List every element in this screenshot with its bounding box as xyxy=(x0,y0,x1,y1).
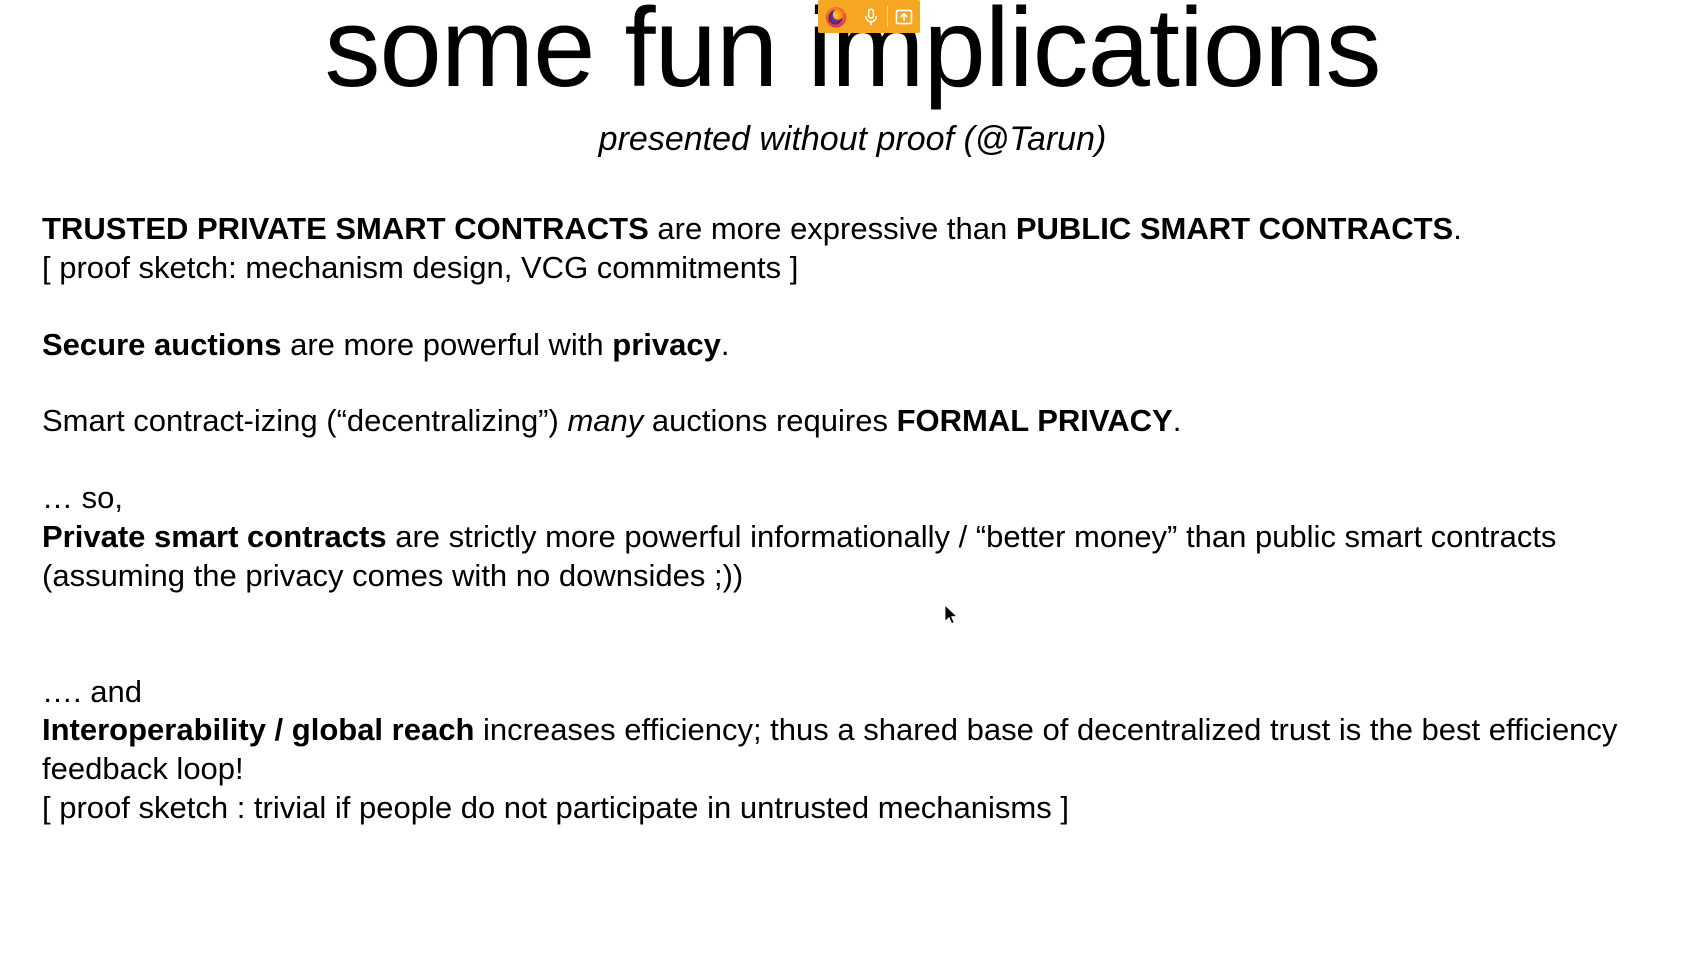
firefox-indicator-chip[interactable] xyxy=(818,0,854,33)
text-run: . xyxy=(1453,211,1462,246)
text-run: … so, xyxy=(42,480,123,515)
screen-share-indicator[interactable] xyxy=(818,0,920,33)
slide-body: TRUSTED PRIVATE SMART CONTRACTS are more… xyxy=(42,210,1685,828)
slide-line: Interoperability / global reach increase… xyxy=(42,711,1685,789)
share-controls-chip[interactable] xyxy=(854,0,920,33)
paragraph-spacer xyxy=(42,596,1685,673)
text-run: auctions requires xyxy=(643,403,896,438)
slide-line: TRUSTED PRIVATE SMART CONTRACTS are more… xyxy=(42,210,1685,249)
slide-line: …. and xyxy=(42,673,1685,712)
paragraph-spacer xyxy=(42,288,1685,326)
slide-paragraph: Smart contract-izing (“decentralizing”) … xyxy=(42,402,1685,441)
emphasis-bold: Private smart contracts xyxy=(42,519,387,554)
slide-line: Secure auctions are more powerful with p… xyxy=(42,326,1685,365)
slide-line: … so, xyxy=(42,479,1685,518)
text-run: are more powerful with xyxy=(281,327,612,362)
slide-paragraph: … so,Private smart contracts are strictl… xyxy=(42,479,1685,595)
slide-line: Smart contract-izing (“decentralizing”) … xyxy=(42,402,1685,441)
microphone-icon[interactable] xyxy=(855,0,887,33)
slide-paragraph: TRUSTED PRIVATE SMART CONTRACTS are more… xyxy=(42,210,1685,288)
mouse-pointer-icon xyxy=(944,604,960,628)
emphasis-bold: PUBLIC SMART CONTRACTS xyxy=(1016,211,1453,246)
text-run: . xyxy=(1173,403,1182,438)
text-run: . xyxy=(721,327,730,362)
emphasis-bold: TRUSTED PRIVATE SMART CONTRACTS xyxy=(42,211,649,246)
slide-paragraph: …. andInteroperability / global reach in… xyxy=(42,673,1685,828)
slide-line: [ proof sketch: mechanism design, VCG co… xyxy=(42,249,1685,288)
emphasis-bold: Interoperability / global reach xyxy=(42,712,474,747)
text-run: …. and xyxy=(42,674,142,709)
emphasis-italic: many xyxy=(567,403,643,438)
screen-share-icon[interactable] xyxy=(888,0,920,33)
emphasis-bold: Secure auctions xyxy=(42,327,281,362)
emphasis-bold: FORMAL PRIVACY xyxy=(897,403,1173,438)
text-run: [ proof sketch : trivial if people do no… xyxy=(42,790,1069,825)
slide-paragraph: Secure auctions are more powerful with p… xyxy=(42,326,1685,365)
firefox-logo-icon xyxy=(820,0,852,33)
paragraph-spacer xyxy=(42,441,1685,479)
text-run: [ proof sketch: mechanism design, VCG co… xyxy=(42,250,798,285)
text-run: are more expressive than xyxy=(649,211,1016,246)
paragraph-spacer xyxy=(42,364,1685,402)
emphasis-bold: privacy xyxy=(612,327,721,362)
slide-line: Private smart contracts are strictly mor… xyxy=(42,518,1685,596)
text-run: Smart contract-izing (“decentralizing”) xyxy=(42,403,567,438)
slide-line: [ proof sketch : trivial if people do no… xyxy=(42,789,1685,828)
slide-subtitle: presented without proof (@Tarun) xyxy=(0,118,1705,161)
presentation-slide: some fun implications presented without … xyxy=(0,0,1705,957)
